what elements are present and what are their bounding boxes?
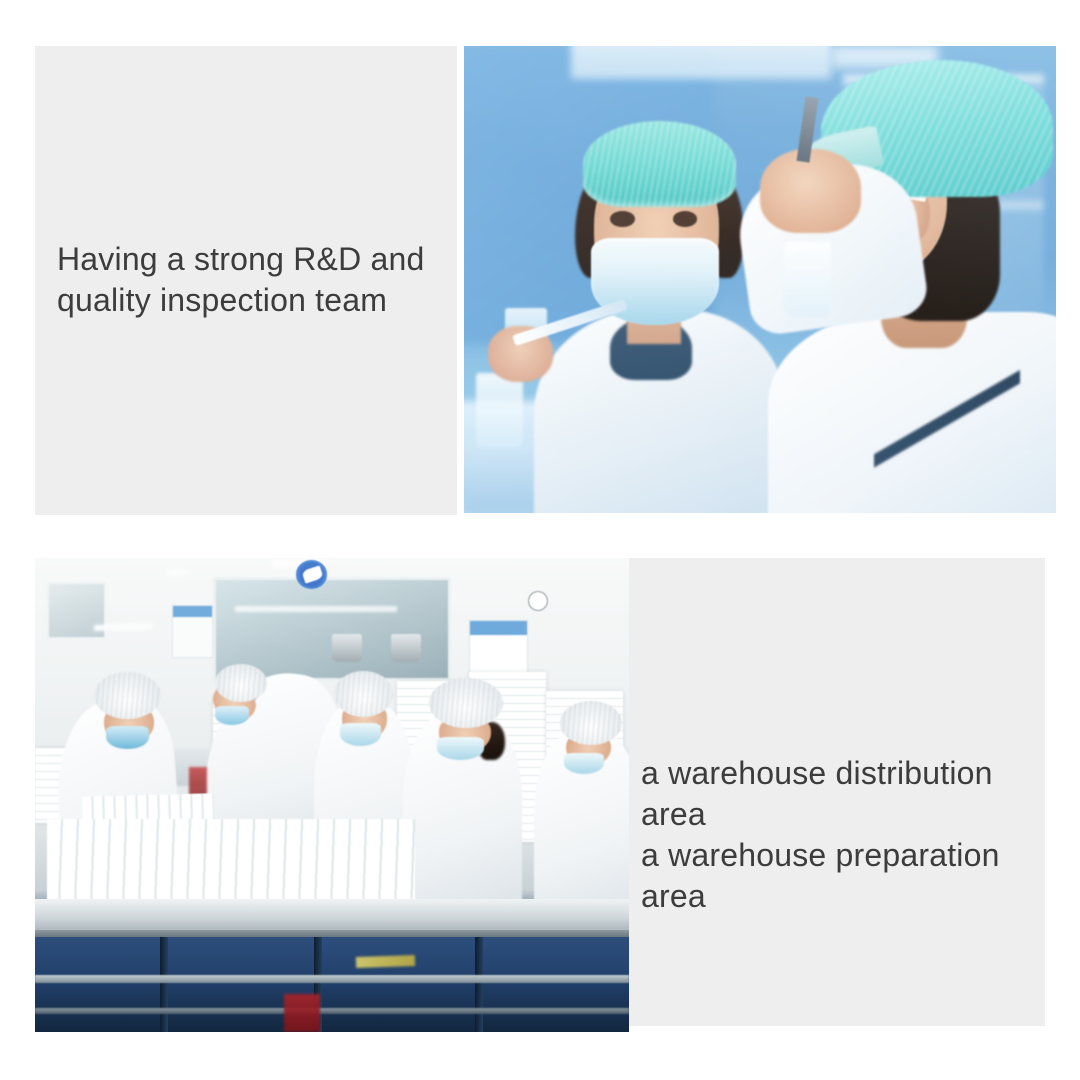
rd-quality-caption: Having a strong R&D and quality inspecti… (57, 239, 447, 321)
warehouse-caption: a warehouse distribution area a warehous… (641, 753, 1045, 917)
warehouse-text-panel: a warehouse distribution area a warehous… (629, 558, 1045, 1026)
photo-haze-overlay (35, 558, 629, 1032)
rd-quality-photo (464, 46, 1056, 513)
rd-quality-text-panel: Having a strong R&D and quality inspecti… (35, 46, 457, 515)
section-rd-quality: Having a strong R&D and quality inspecti… (0, 0, 1080, 520)
section-warehouse: a warehouse distribution area a warehous… (0, 556, 1080, 1032)
photo-haze-overlay (464, 46, 1056, 513)
poster-canvas: Having a strong R&D and quality inspecti… (0, 0, 1080, 1080)
warehouse-photo (35, 558, 629, 1032)
